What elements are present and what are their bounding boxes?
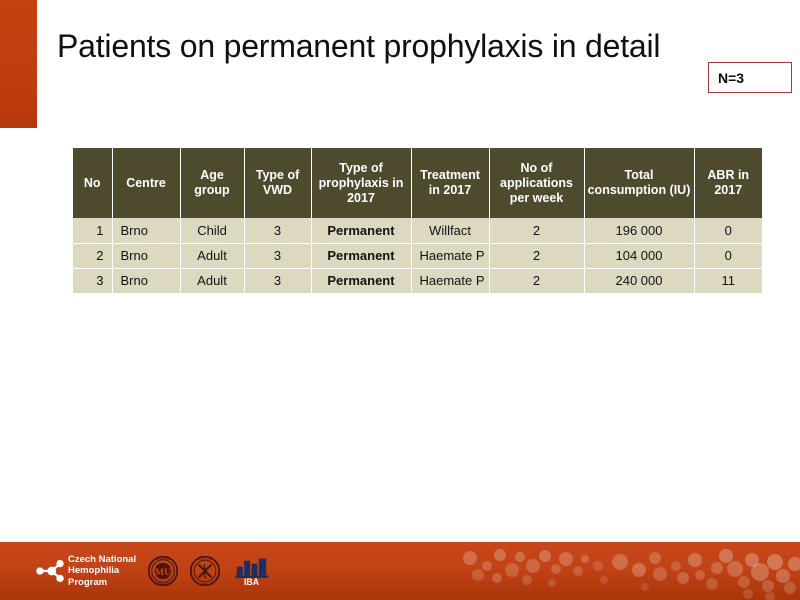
cell-abr: 11: [694, 268, 762, 293]
cell-age-group: Child: [180, 218, 244, 243]
svg-text:BRNO: BRNO: [202, 584, 208, 586]
column-header-centre: Centre: [112, 148, 180, 218]
svg-text:MU: MU: [155, 567, 171, 578]
program-name-line1: Czech National: [68, 554, 136, 566]
column-header-type-of-prophylaxis: Type of prophylaxis in 2017: [311, 148, 411, 218]
accent-bar: [0, 0, 37, 128]
cell-type-of-vwd: 3: [244, 218, 311, 243]
cell-no: 2: [73, 243, 112, 268]
table-header: No Centre Age group Type of VWD Type of …: [73, 148, 762, 218]
column-header-type-of-vwd: Type of VWD: [244, 148, 311, 218]
masaryk-university-seal-icon: MU UNIVERSITAS MASARYKIANA: [148, 556, 178, 586]
cell-age-group: Adult: [180, 268, 244, 293]
sample-size-label: N=3: [709, 70, 744, 86]
cell-type-of-prophylaxis: Permanent: [311, 243, 411, 268]
patients-table: No Centre Age group Type of VWD Type of …: [73, 148, 762, 293]
table-row: 1 Brno Child 3 Permanent Willfact 2 196 …: [73, 218, 762, 243]
footer-content: Czech National Hemophilia Program MU UNI…: [0, 542, 800, 600]
svg-text:UNIVERSITAS: UNIVERSITAS: [156, 558, 171, 561]
cell-centre: Brno: [112, 218, 180, 243]
table-body: 1 Brno Child 3 Permanent Willfact 2 196 …: [73, 218, 762, 293]
cell-age-group: Adult: [180, 243, 244, 268]
table-row: 3 Brno Adult 3 Permanent Haemate P 2 240…: [73, 268, 762, 293]
program-name-line2: Hemophilia: [68, 565, 136, 577]
iba-label: IBA: [244, 577, 260, 586]
cell-no: 3: [73, 268, 112, 293]
cell-no: 1: [73, 218, 112, 243]
column-header-age-group: Age group: [180, 148, 244, 218]
column-header-applications: No of applications per week: [489, 148, 584, 218]
footer-bar: Czech National Hemophilia Program MU UNI…: [0, 542, 800, 600]
svg-text:MASARYKIANA: MASARYKIANA: [155, 583, 172, 586]
cell-applications: 2: [489, 218, 584, 243]
cell-type-of-vwd: 3: [244, 268, 311, 293]
cell-type-of-vwd: 3: [244, 243, 311, 268]
cell-type-of-prophylaxis: Permanent: [311, 268, 411, 293]
cell-treatment: Haemate P: [411, 243, 489, 268]
cell-applications: 2: [489, 243, 584, 268]
column-header-total-consumption: Total consumption (IU): [584, 148, 694, 218]
cell-abr: 0: [694, 218, 762, 243]
cell-centre: Brno: [112, 268, 180, 293]
cell-abr: 0: [694, 243, 762, 268]
hospital-seal-icon: NEMOCNICE BRNO: [190, 556, 220, 586]
cell-treatment: Haemate P: [411, 268, 489, 293]
iba-logo-icon: IBA: [234, 556, 272, 586]
cell-treatment: Willfact: [411, 218, 489, 243]
molecule-icon: [36, 557, 64, 585]
table-header-row: No Centre Age group Type of VWD Type of …: [73, 148, 762, 218]
column-header-no: No: [73, 148, 112, 218]
cell-total-consumption: 104 000: [584, 243, 694, 268]
page-title: Patients on permanent prophylaxis in det…: [57, 26, 660, 66]
svg-text:NEMOCNICE: NEMOCNICE: [199, 559, 212, 561]
sample-size-badge: N=3: [708, 62, 792, 93]
program-name-line3: Program: [68, 577, 136, 589]
cell-total-consumption: 240 000: [584, 268, 694, 293]
cell-centre: Brno: [112, 243, 180, 268]
column-header-treatment: Treatment in 2017: [411, 148, 489, 218]
cell-applications: 2: [489, 268, 584, 293]
column-header-abr: ABR in 2017: [694, 148, 762, 218]
cell-total-consumption: 196 000: [584, 218, 694, 243]
program-name: Czech National Hemophilia Program: [68, 554, 136, 589]
table-row: 2 Brno Adult 3 Permanent Haemate P 2 104…: [73, 243, 762, 268]
cell-type-of-prophylaxis: Permanent: [311, 218, 411, 243]
